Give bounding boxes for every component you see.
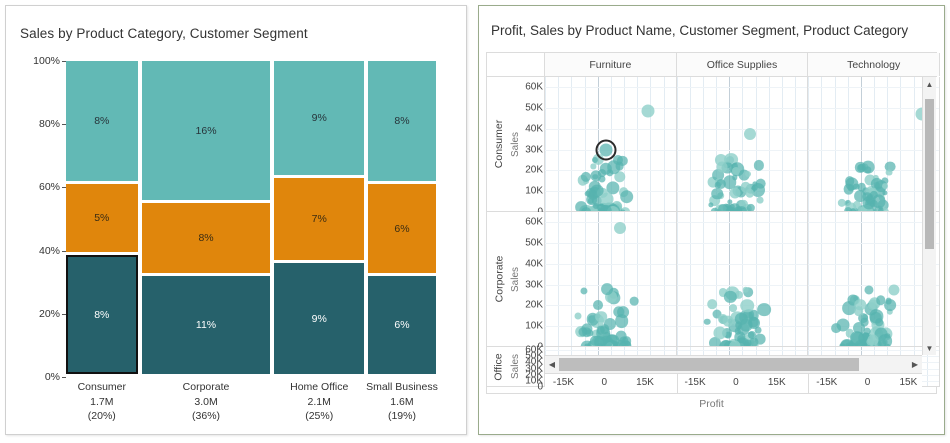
grid-line-horizontal [808, 222, 939, 223]
horizontal-scrollbar[interactable]: ◀ ▶ [545, 355, 922, 373]
grid-line-horizontal [545, 264, 676, 265]
facet-divider [808, 374, 809, 393]
scatter-point[interactable] [581, 172, 591, 182]
facet-row: ConsumerSales60K50K40K30K20K10K0 [487, 77, 936, 212]
scatter-matrix-title: Profit, Sales by Product Name, Customer … [491, 23, 908, 38]
mosaic-segment-label: 6% [394, 223, 409, 235]
scatter-point[interactable] [748, 317, 759, 328]
scatter-y-tick: 30K [525, 144, 543, 155]
grid-line-horizontal [677, 285, 808, 286]
scroll-right-arrow[interactable]: ▶ [908, 356, 922, 373]
horizontal-scrollbar-thumb[interactable] [559, 358, 859, 371]
scatter-point[interactable] [615, 162, 624, 171]
facet-row-header[interactable]: ConsumerSales60K50K40K30K20K10K0 [487, 77, 545, 212]
scatter-y-tick: 20K [525, 300, 543, 311]
category-share: (19%) [356, 409, 448, 424]
mosaic-segment-label: 8% [94, 309, 109, 321]
scatter-point[interactable] [740, 299, 754, 313]
mosaic-segment[interactable]: 6% [368, 276, 436, 374]
scatter-point[interactable] [723, 316, 734, 327]
mosaic-segment-label: 9% [312, 112, 327, 124]
scatter-point[interactable] [882, 183, 888, 189]
scatter-facet-cell[interactable] [677, 212, 809, 347]
scatter-point[interactable] [630, 297, 639, 306]
grid-line-horizontal [545, 222, 676, 223]
scatter-y-ticks: 60K50K40K30K20K10K0 [521, 212, 545, 346]
scatter-point[interactable] [840, 340, 853, 347]
vertical-scrollbar-thumb[interactable] [925, 99, 934, 249]
scatter-x-tick: 0 [865, 377, 871, 388]
mosaic-chart-panel[interactable]: Sales by Product Category, Customer Segm… [5, 5, 467, 435]
mosaic-segment[interactable]: 8% [142, 203, 271, 273]
dashboard: Sales by Product Category, Customer Segm… [0, 0, 950, 443]
mosaic-x-axis: Consumer1.7M(20%)Corporate3.0M(36%)Home … [66, 380, 436, 440]
scatter-facet-cell[interactable] [545, 212, 677, 347]
scatter-facet-cell[interactable] [808, 212, 940, 347]
scatter-point[interactable] [741, 182, 752, 193]
grid-line-horizontal [677, 350, 808, 351]
facet-column-header[interactable]: Technology [808, 53, 940, 76]
grid-line-horizontal [545, 243, 676, 244]
scatter-point[interactable] [601, 283, 613, 295]
mosaic-segment[interactable]: 16% [142, 61, 271, 200]
scatter-x-axis-title: Profit [479, 398, 944, 436]
scatter-y-tick: 20K [525, 165, 543, 176]
scatter-point[interactable] [642, 105, 655, 118]
grid-line-horizontal [545, 305, 676, 306]
scatter-facets[interactable]: ConsumerSales60K50K40K30K20K10K0Corporat… [487, 77, 936, 355]
grid-line-horizontal [545, 350, 676, 351]
scatter-matrix-panel[interactable]: Profit, Sales by Product Name, Customer … [478, 5, 945, 435]
scroll-left-arrow[interactable]: ◀ [545, 356, 559, 373]
scatter-x-tick: -15K [685, 377, 706, 388]
scatter-point[interactable] [729, 340, 740, 347]
vertical-scrollbar[interactable]: ▲ ▼ [922, 77, 936, 355]
mosaic-segment-label: 7% [312, 213, 327, 225]
mosaic-segment-label: 6% [394, 319, 409, 331]
mosaic-segment-label: 9% [312, 313, 327, 325]
scatter-point[interactable] [598, 169, 606, 177]
scatter-x-axis-ticks: -15K015K-15K015K-15K015K [545, 373, 922, 393]
scatter-point[interactable] [580, 287, 587, 294]
scatter-point[interactable] [729, 187, 740, 198]
scatter-point[interactable] [724, 290, 736, 302]
scatter-point[interactable] [600, 336, 612, 347]
grid-line-horizontal [808, 129, 939, 130]
category-total: 3.0M [130, 395, 283, 410]
scatter-point[interactable] [591, 164, 596, 169]
facet-row-header-label: Corporate [489, 212, 509, 346]
mosaic-y-tick: 40% [39, 245, 60, 257]
scatter-y-tick: 0 [537, 382, 543, 393]
grid-line-horizontal [677, 264, 808, 265]
mosaic-segment[interactable]: 5% [66, 184, 138, 252]
mosaic-segment[interactable]: 8% [66, 255, 138, 374]
mosaic-segment-label: 8% [198, 232, 213, 244]
grid-corner [487, 53, 545, 76]
grid-line-horizontal [808, 264, 939, 265]
facet-column-header[interactable]: Furniture [545, 53, 677, 76]
scatter-point[interactable] [864, 285, 873, 294]
scatter-point[interactable] [858, 164, 864, 170]
facet-row-header[interactable]: CorporateSales60K50K40K30K20K10K0 [487, 212, 545, 347]
scatter-y-tick: 10K [525, 186, 543, 197]
mosaic-column[interactable]: 8%5%8% [66, 61, 138, 377]
mosaic-y-tick: 80% [39, 118, 60, 130]
mosaic-segment-label: 16% [196, 125, 217, 137]
scatter-y-tick: 60K [525, 82, 543, 93]
scatter-point[interactable] [747, 203, 755, 211]
category-share: (36%) [130, 409, 283, 424]
scatter-point[interactable] [744, 128, 756, 140]
scatter-point[interactable] [620, 190, 634, 204]
mosaic-column[interactable]: 9%7%9% [274, 61, 364, 377]
grid-line-horizontal [808, 150, 939, 151]
facet-row: CorporateSales60K50K40K30K20K10K0 [487, 212, 936, 347]
scatter-point[interactable] [616, 340, 626, 347]
scatter-x-tick: 0 [601, 377, 607, 388]
scatter-x-tick: -15K [816, 377, 837, 388]
scatter-point[interactable] [757, 197, 764, 204]
scatter-point[interactable] [614, 222, 626, 234]
scatter-point[interactable] [600, 193, 613, 206]
grid-line-horizontal [545, 108, 676, 109]
scatter-point[interactable] [593, 203, 599, 209]
scatter-point[interactable] [704, 318, 711, 325]
scatter-y-tick: 60K [525, 217, 543, 228]
mosaic-segment[interactable]: 6% [368, 184, 436, 273]
scatter-y-ticks: 60K50K40K30K20K10K0 [521, 347, 545, 386]
scatter-point[interactable] [593, 300, 603, 310]
mosaic-segment[interactable]: 8% [368, 61, 436, 181]
mosaic-y-tick: 20% [39, 308, 60, 320]
scatter-matrix-grid[interactable]: FurnitureOffice SuppliesTechnology Consu… [486, 52, 937, 394]
scroll-up-arrow[interactable]: ▲ [923, 77, 936, 91]
scatter-point[interactable] [875, 319, 883, 327]
mosaic-y-tick: 100% [33, 55, 60, 67]
mosaic-segment[interactable]: 9% [274, 61, 364, 175]
mosaic-segment[interactable]: 8% [66, 61, 138, 181]
scatter-point[interactable] [888, 285, 899, 296]
scatter-y-tick: 50K [525, 238, 543, 249]
scatter-point[interactable] [753, 160, 763, 170]
grid-line-horizontal [808, 243, 939, 244]
facet-column-header-label: Furniture [589, 59, 631, 71]
grid-line-horizontal [677, 87, 808, 88]
page-title: Sales by Product Category, Customer Segm… [20, 26, 308, 41]
scatter-y-tick: 10K [525, 321, 543, 332]
scroll-down-arrow[interactable]: ▼ [923, 341, 936, 355]
scatter-point[interactable] [615, 315, 629, 329]
grid-line-horizontal [677, 129, 808, 130]
facet-column-header-label: Technology [847, 59, 900, 71]
grid-line-horizontal [808, 350, 939, 351]
grid-line-horizontal [545, 87, 676, 88]
facet-column-header[interactable]: Office Supplies [677, 53, 809, 76]
scatter-facet-cell[interactable] [677, 77, 809, 212]
scatter-point[interactable] [884, 299, 896, 311]
scatter-facet-cell[interactable] [545, 77, 677, 212]
scatter-x-tick: 15K [768, 377, 786, 388]
scatter-x-tick: 0 [733, 377, 739, 388]
scatter-point[interactable] [732, 167, 740, 175]
scatter-x-tick: 15K [899, 377, 917, 388]
scatter-point[interactable] [745, 171, 751, 177]
scatter-point[interactable] [716, 162, 727, 173]
grid-line-horizontal [808, 87, 939, 88]
scatter-point[interactable] [574, 312, 581, 319]
category-name: Small Business [356, 380, 448, 395]
mosaic-column[interactable]: 8%6%6% [368, 61, 436, 377]
grid-line-horizontal [677, 150, 808, 151]
scatter-x-tick: 15K [636, 377, 654, 388]
scatter-point[interactable] [716, 179, 726, 189]
grid-line-horizontal [677, 108, 808, 109]
facet-row-header-label: Consumer [489, 77, 509, 211]
mosaic-x-label: Small Business1.6M(19%) [356, 380, 448, 424]
scatter-point[interactable] [606, 169, 613, 176]
scatter-y-tick: 50K [525, 103, 543, 114]
scatter-x-tick: -15K [553, 377, 574, 388]
scatter-point[interactable] [596, 325, 605, 334]
scatter-point[interactable] [712, 188, 724, 200]
scatter-point[interactable] [873, 182, 880, 189]
mosaic-segment-label: 8% [394, 115, 409, 127]
scatter-point[interactable] [595, 311, 607, 323]
scatter-point[interactable] [729, 304, 737, 312]
mosaic-segment-label: 8% [94, 115, 109, 127]
mosaic-segment[interactable]: 7% [274, 178, 364, 260]
grid-line-horizontal [677, 243, 808, 244]
selection-halo-icon [596, 139, 617, 160]
scatter-y-tick: 40K [525, 123, 543, 134]
grid-line-horizontal [808, 285, 939, 286]
facet-row-header-label: Office [489, 347, 509, 386]
mosaic-plot-area[interactable]: 8%5%8%16%8%11%9%7%9%8%6%6% [66, 61, 436, 377]
mosaic-segment-label: 11% [196, 319, 216, 331]
scatter-y-tick: 30K [525, 279, 543, 290]
scatter-y-tick: 40K [525, 258, 543, 269]
scatter-y-ticks: 60K50K40K30K20K10K0 [521, 77, 545, 211]
mosaic-x-label: Corporate3.0M(36%) [130, 380, 283, 424]
scatter-point[interactable] [885, 169, 892, 176]
scatter-point[interactable] [743, 286, 750, 293]
scatter-point[interactable] [855, 299, 867, 311]
facet-column-header-label: Office Supplies [707, 59, 777, 71]
facet-divider [677, 374, 678, 393]
scatter-facet-cell[interactable] [808, 77, 940, 212]
category-total: 1.6M [356, 395, 448, 410]
scatter-point[interactable] [854, 340, 867, 347]
category-name: Corporate [130, 380, 283, 395]
mosaic-y-tick: 60% [39, 181, 60, 193]
scatter-point[interactable] [707, 299, 717, 309]
mosaic-segment[interactable]: 9% [274, 263, 364, 374]
mosaic-segment[interactable]: 11% [142, 276, 271, 374]
mosaic-column[interactable]: 16%8%11% [142, 61, 271, 377]
column-header-strip: FurnitureOffice SuppliesTechnology [487, 53, 936, 77]
mosaic-segment-label: 5% [94, 212, 109, 224]
facet-row-header[interactable]: OfficeSales60K50K40K30K20K10K0 [487, 347, 545, 387]
mosaic-y-axis: 100%80%60%40%20%0% [26, 61, 66, 377]
grid-line-horizontal [545, 129, 676, 130]
grid-line-horizontal [677, 222, 808, 223]
